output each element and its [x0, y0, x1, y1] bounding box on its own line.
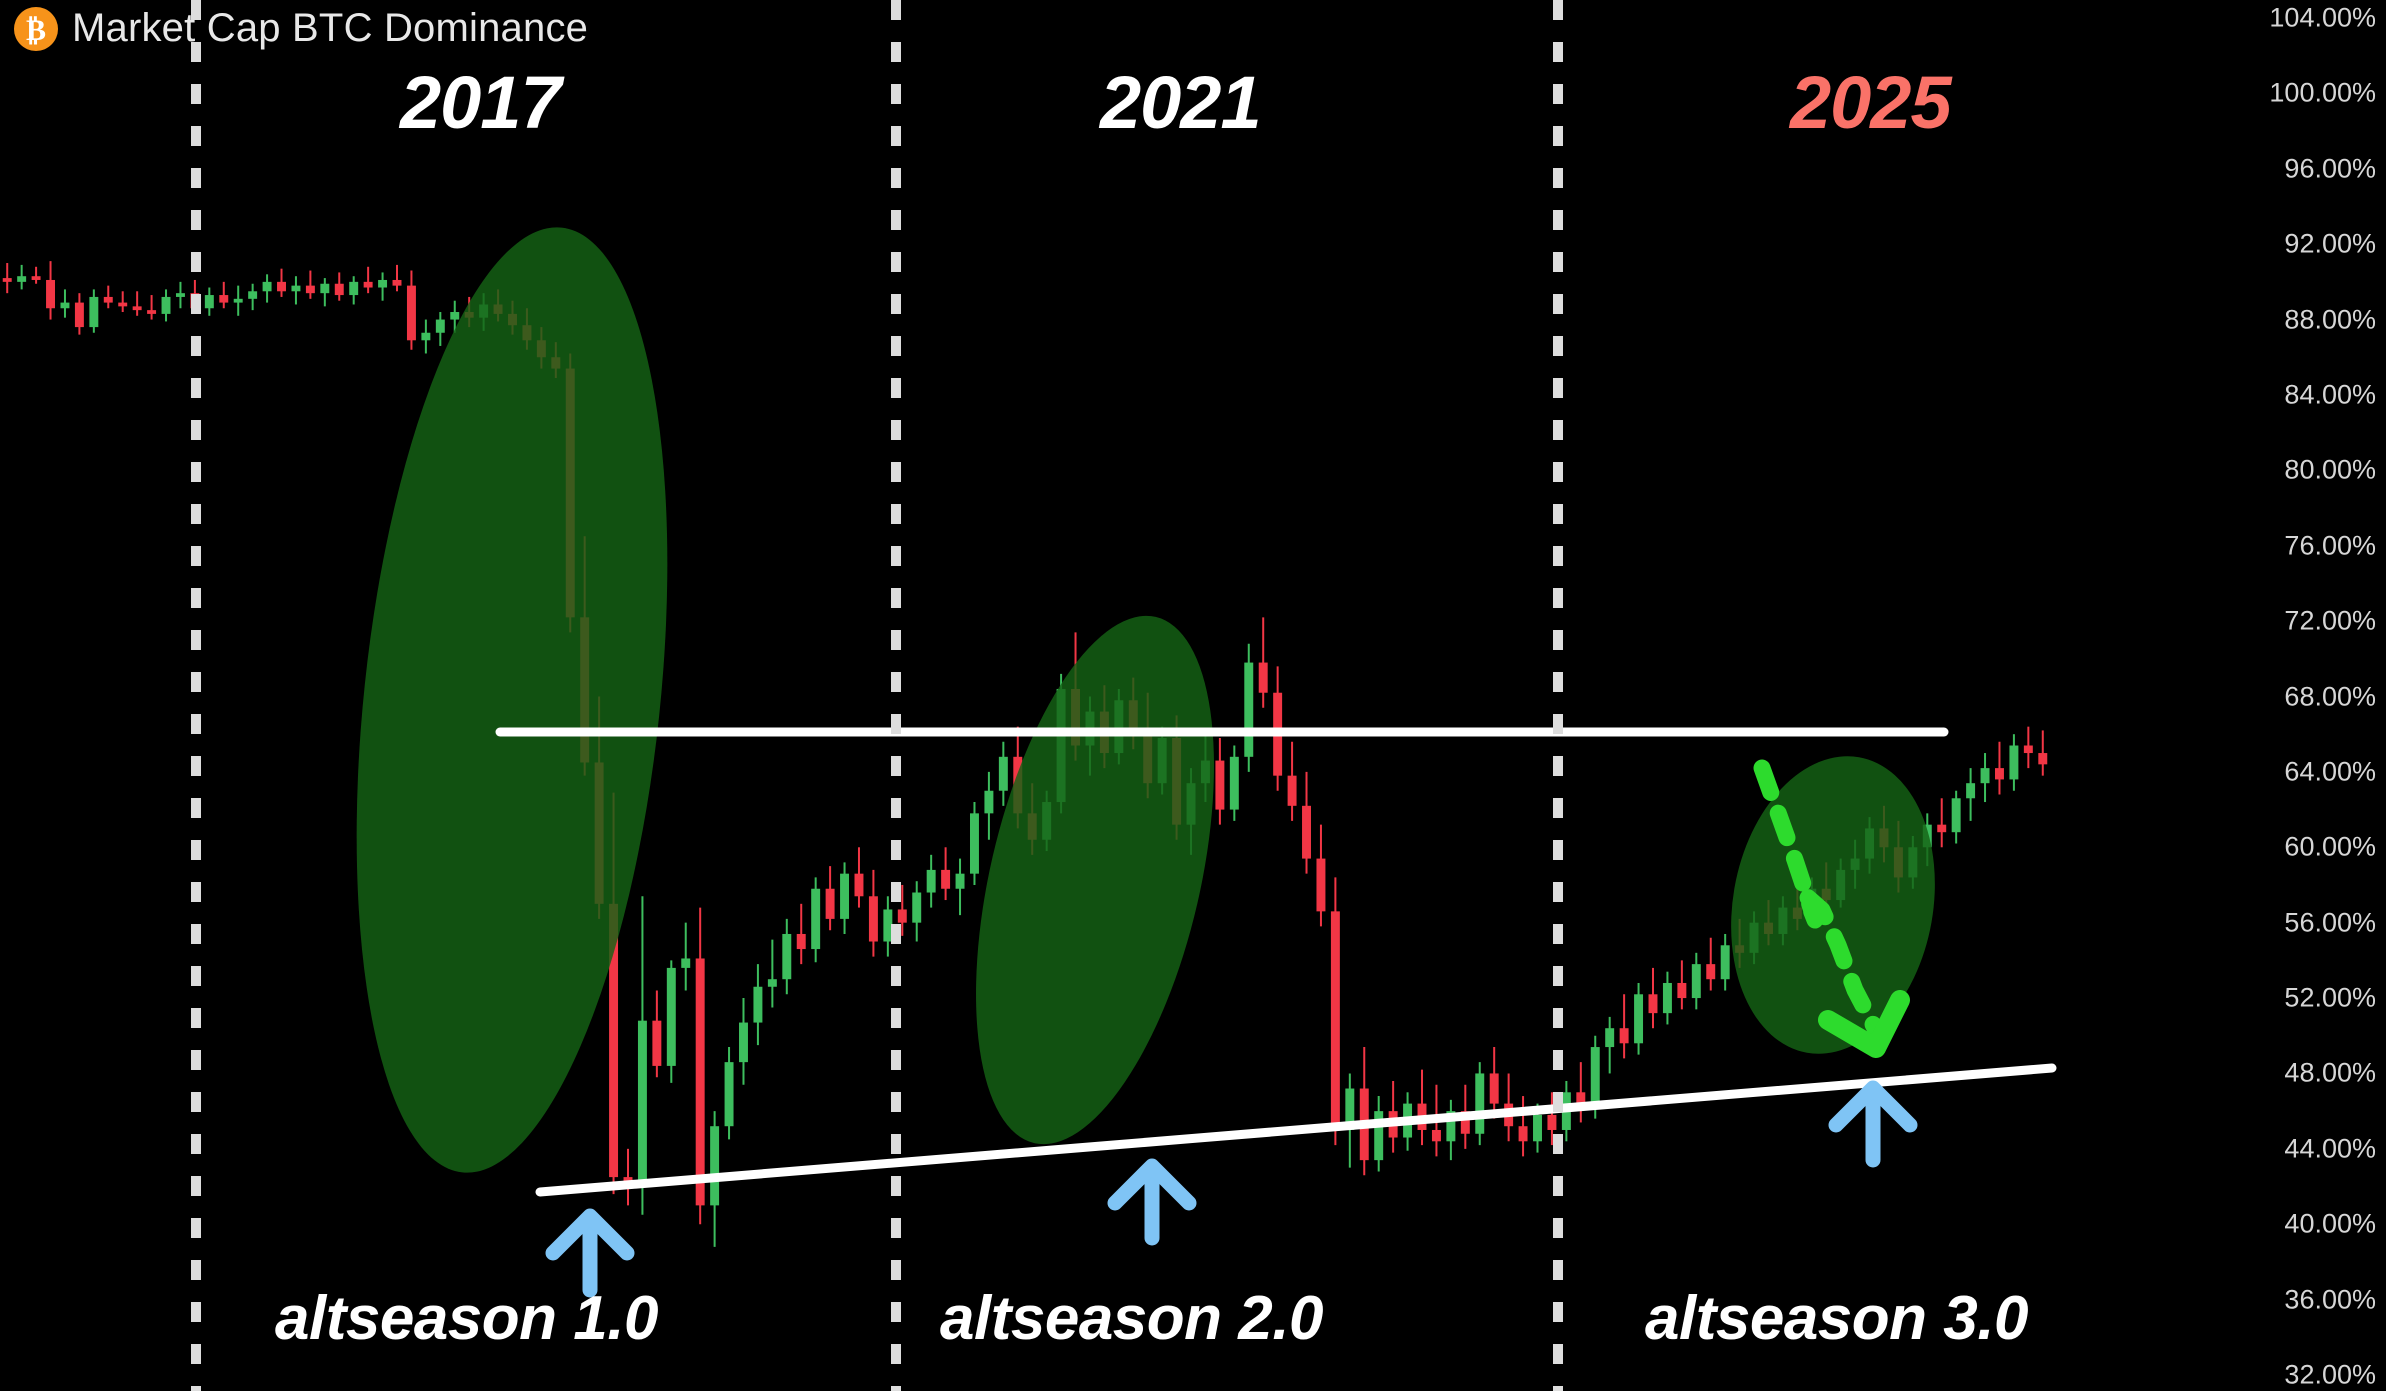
candle-body: [984, 791, 993, 814]
candle-body: [32, 276, 41, 280]
candle-body: [768, 979, 777, 987]
candle-body: [147, 310, 156, 314]
price-axis-label: 76.00%: [2196, 530, 2376, 561]
candle-body: [956, 874, 965, 889]
price-axis-label: 64.00%: [2196, 756, 2376, 787]
cycle-label-2021: 2021: [1100, 60, 1261, 145]
candle-body: [1302, 806, 1311, 859]
candle-body: [2009, 746, 2018, 780]
candle-body: [869, 896, 878, 941]
candle-body: [436, 320, 445, 333]
candle-body: [840, 874, 849, 919]
candle-body: [927, 870, 936, 893]
candle-body: [421, 333, 430, 341]
candle-body: [1288, 776, 1297, 806]
price-axis-label: 68.00%: [2196, 681, 2376, 712]
chart-title-row: ₿ Market Cap BTC Dominance: [14, 6, 588, 51]
price-axis[interactable]: 104.00%100.00%96.00%92.00%88.00%84.00%80…: [2196, 0, 2376, 1391]
candle-body: [811, 889, 820, 949]
cycle-label-2017: 2017: [400, 60, 561, 145]
candle-body: [1316, 859, 1325, 912]
candle-body: [219, 295, 228, 303]
candle-body: [681, 958, 690, 967]
candle-body: [1591, 1047, 1600, 1107]
candle-body: [450, 312, 459, 320]
price-chart-canvas[interactable]: [0, 0, 2386, 1391]
price-axis-label: 84.00%: [2196, 379, 2376, 410]
candle-body: [407, 286, 416, 341]
candle-body: [1966, 783, 1975, 798]
candle-body: [75, 303, 84, 328]
candle-body: [1706, 964, 1715, 979]
candle-body: [306, 286, 315, 294]
price-axis-label: 44.00%: [2196, 1133, 2376, 1164]
candle-body: [393, 280, 402, 286]
candle-body: [1432, 1130, 1441, 1141]
price-axis-label: 80.00%: [2196, 455, 2376, 486]
bitcoin-icon: ₿: [14, 7, 58, 51]
price-axis-label: 52.00%: [2196, 983, 2376, 1014]
candle-body: [970, 813, 979, 873]
candle-body: [1605, 1028, 1614, 1047]
annotation-altseason-1: altseason 1.0: [275, 1283, 658, 1354]
candle-body: [782, 934, 791, 979]
candle-body: [234, 299, 243, 303]
svg-text:₿: ₿: [26, 14, 46, 47]
price-axis-label: 32.00%: [2196, 1360, 2376, 1391]
candle-body: [1331, 911, 1340, 1130]
annotation-altseason-3: altseason 3.0: [1645, 1283, 2028, 1354]
price-axis-label: 48.00%: [2196, 1058, 2376, 1089]
candle-body: [46, 280, 55, 308]
candle-body: [1215, 761, 1224, 810]
price-axis-label: 72.00%: [2196, 606, 2376, 637]
candle-body: [364, 282, 373, 288]
price-axis-label: 100.00%: [2196, 78, 2376, 109]
candle-body: [652, 1021, 661, 1066]
candle-body: [162, 297, 171, 314]
candle-body: [1663, 983, 1672, 1013]
candle-body: [1634, 994, 1643, 1043]
candle-body: [1475, 1073, 1484, 1133]
candle-body: [1547, 1115, 1556, 1130]
candle-body: [912, 893, 921, 923]
candle-body: [1692, 964, 1701, 998]
candle-body: [753, 987, 762, 1023]
candle-body: [1649, 994, 1658, 1013]
candle-body: [378, 280, 387, 288]
candle-body: [999, 757, 1008, 791]
candle-body: [335, 284, 344, 295]
candle-body: [104, 297, 113, 303]
candle-body: [1620, 1028, 1629, 1043]
candle-body: [1937, 825, 1946, 833]
candle-body: [898, 909, 907, 922]
chart-screenshot: ₿ Market Cap BTC Dominance 2017 2021 202…: [0, 0, 2386, 1391]
candle-body: [1721, 945, 1730, 979]
candle-body: [667, 968, 676, 1066]
candle-body: [1995, 768, 2004, 779]
candle-body: [941, 870, 950, 889]
candle-body: [855, 874, 864, 897]
candle-body: [1519, 1126, 1528, 1141]
candle-body: [89, 297, 98, 327]
candle-body: [263, 282, 272, 291]
candle-body: [1490, 1073, 1499, 1103]
candle-body: [1952, 798, 1961, 832]
candle-body: [1981, 768, 1990, 783]
price-axis-label: 56.00%: [2196, 907, 2376, 938]
candle-body: [3, 278, 12, 282]
candle-body: [133, 306, 142, 310]
candle-body: [710, 1126, 719, 1205]
candle-body: [797, 934, 806, 949]
annotation-altseason-2: altseason 2.0: [940, 1283, 1323, 1354]
candle-body: [725, 1062, 734, 1126]
candle-body: [118, 303, 127, 307]
price-axis-label: 92.00%: [2196, 229, 2376, 260]
price-axis-label: 40.00%: [2196, 1209, 2376, 1240]
candle-body: [826, 889, 835, 919]
price-axis-label: 36.00%: [2196, 1284, 2376, 1315]
candle-body: [60, 303, 69, 309]
candle-body: [17, 276, 26, 282]
price-axis-label: 60.00%: [2196, 832, 2376, 863]
cycle-label-2025: 2025: [1790, 60, 1951, 145]
candle-body: [2038, 753, 2047, 764]
candle-body: [2024, 746, 2033, 754]
candle-body: [1533, 1115, 1542, 1141]
page-title: Market Cap BTC Dominance: [72, 6, 588, 51]
candle-body: [320, 284, 329, 293]
candle-body: [883, 909, 892, 941]
candle-body: [205, 295, 214, 308]
candle-body: [1677, 983, 1686, 998]
candle-body: [349, 282, 358, 295]
price-axis-label: 104.00%: [2196, 3, 2376, 34]
candle-body: [1244, 663, 1253, 757]
candle-body: [248, 291, 257, 299]
candle-body: [1259, 663, 1268, 693]
candle-body: [176, 293, 185, 297]
price-axis-label: 88.00%: [2196, 304, 2376, 335]
price-axis-label: 96.00%: [2196, 153, 2376, 184]
candle-body: [277, 282, 286, 291]
candle-body: [291, 286, 300, 292]
candle-body: [739, 1023, 748, 1063]
candle-body: [1230, 757, 1239, 810]
candle-body: [696, 958, 705, 1205]
candle-body: [638, 1021, 647, 1187]
